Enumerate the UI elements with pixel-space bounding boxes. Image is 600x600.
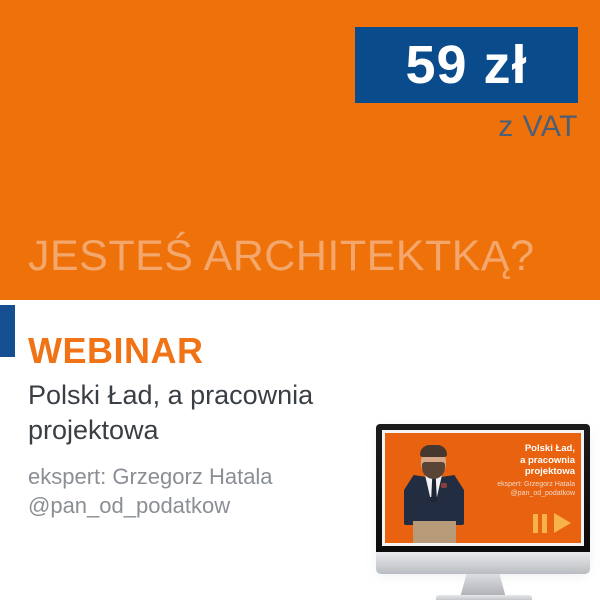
thumbnail-expert-handle: @pan_od_podatkow [467, 489, 575, 498]
presenter-photo [399, 445, 471, 543]
pause-bar-left [533, 514, 538, 533]
vat-note: z VAT [0, 110, 578, 144]
presenter-hair [420, 445, 447, 457]
price-badge: 59 zł [355, 27, 578, 103]
expert-name: ekspert: Grzegorz Hatala [28, 462, 388, 491]
webinar-label: WEBINAR [28, 330, 203, 372]
blue-accent-bar [0, 305, 15, 357]
webinar-subject: Polski Ład, a pracownia projektowa [28, 378, 428, 447]
thumbnail-expert: ekspert: Grzegorz Hatala @pan_od_podatko… [467, 480, 575, 498]
thumbnail-title: Polski Ład, a pracownia projektowa [467, 443, 575, 478]
pause-icon[interactable] [533, 514, 547, 533]
media-controls[interactable] [533, 513, 571, 533]
pause-bar-right [542, 514, 547, 533]
monitor-mockup: Polski Ład, a pracownia projektowa ekspe… [372, 424, 594, 600]
thumbnail-title-line-3: projektowa [467, 466, 575, 478]
thumbnail-expert-name: ekspert: Grzegorz Hatala [467, 480, 575, 489]
webinar-promo-poster: 59 zł z VAT JESTEŚ ARCHITEKTKĄ? WEBINAR … [0, 0, 600, 600]
page-title: JESTEŚ ARCHITEKTKĄ? [28, 232, 535, 281]
webinar-expert: ekspert: Grzegorz Hatala @pan_od_podatko… [28, 462, 388, 520]
monitor-chin [376, 552, 590, 574]
play-icon[interactable] [554, 513, 571, 533]
video-thumbnail[interactable]: Polski Ład, a pracownia projektowa ekspe… [385, 433, 581, 543]
monitor-bezel: Polski Ład, a pracownia projektowa ekspe… [376, 424, 590, 552]
price-amount: 59 zł [405, 38, 527, 92]
thumbnail-title-line-2: a pracownia [467, 455, 575, 467]
presenter-trousers [413, 521, 456, 543]
monitor-screen-matte: Polski Ład, a pracownia projektowa ekspe… [382, 430, 584, 546]
monitor-stand-base [436, 595, 532, 600]
presenter-pocket-square [441, 483, 447, 488]
expert-handle: @pan_od_podatkow [28, 491, 388, 520]
thumbnail-title-line-1: Polski Ład, [467, 443, 575, 455]
